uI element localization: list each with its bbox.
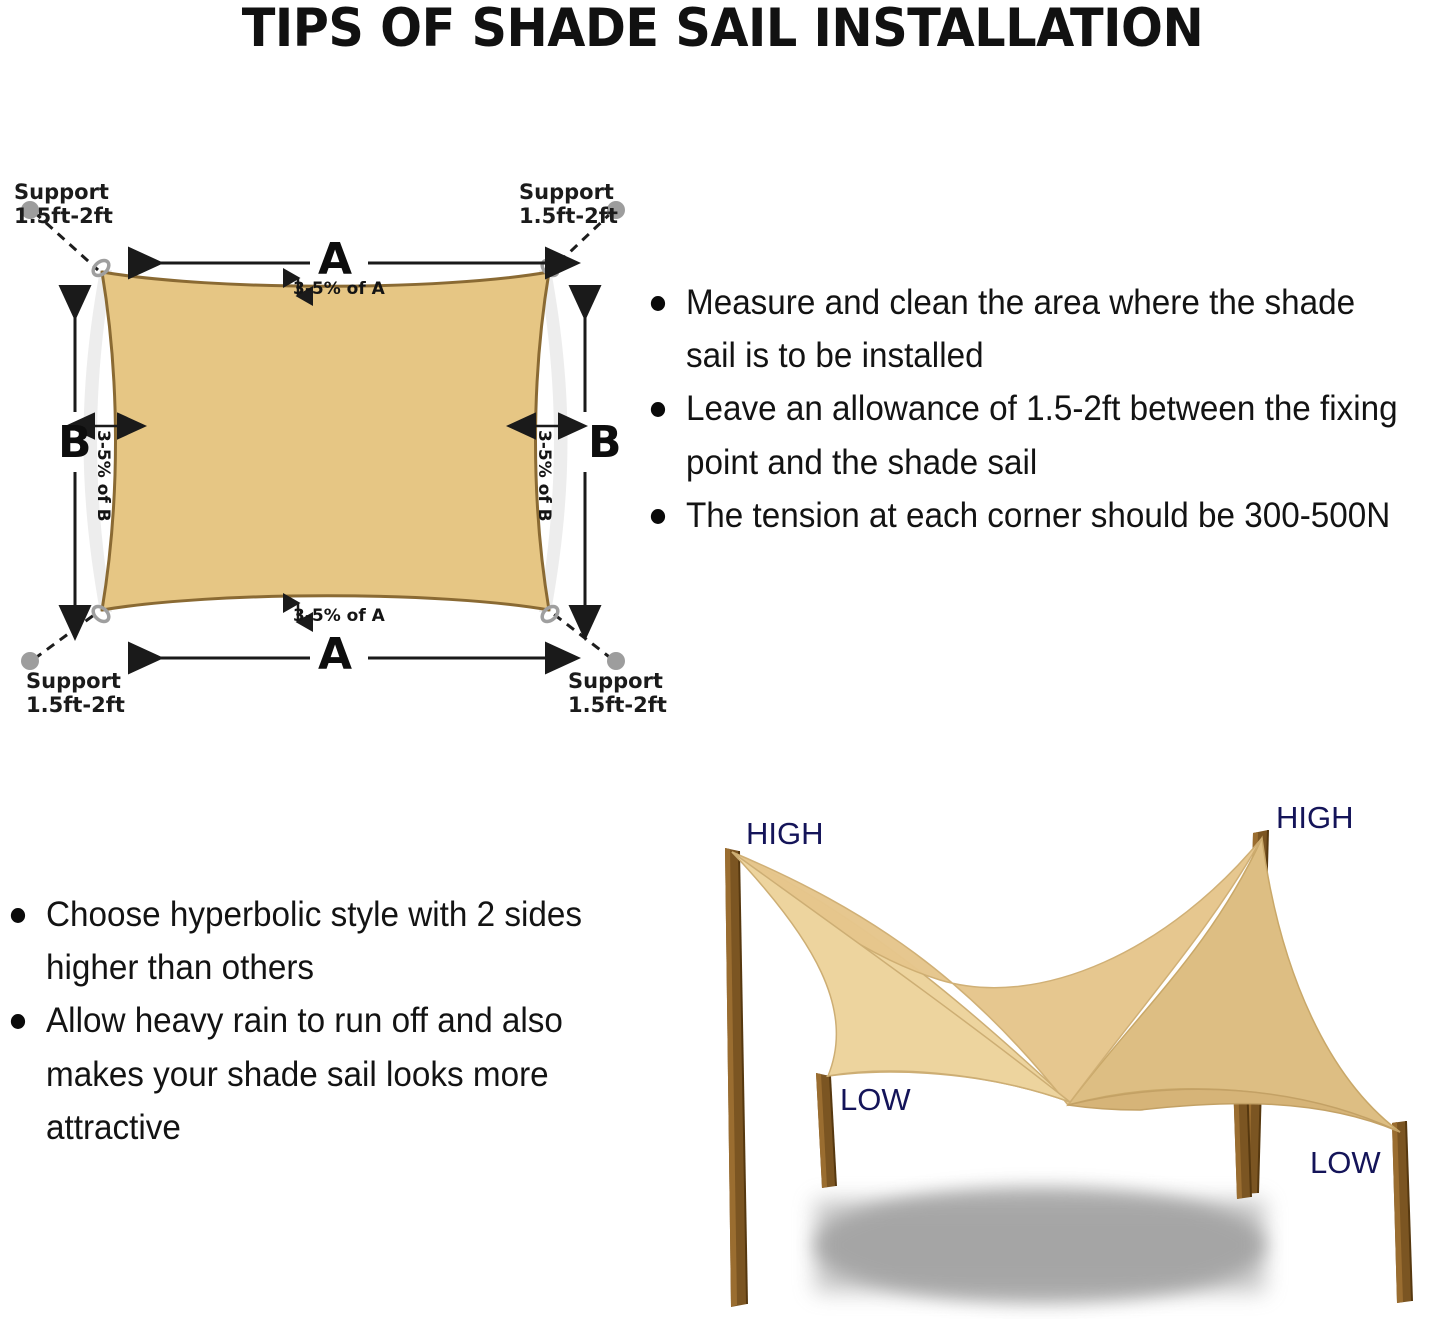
support-label-line1: Support bbox=[519, 181, 618, 205]
hyperbolic-sail-illustration: HIGH HIGH LOW LOW bbox=[640, 780, 1445, 1319]
list-item: Choose hyperbolic style with 2 sides hig… bbox=[8, 888, 597, 994]
list-item: Allow heavy rain to run off and also mak… bbox=[8, 994, 597, 1154]
support-dot-bottom-right bbox=[607, 652, 625, 670]
tips-list-left: Choose hyperbolic style with 2 sides hig… bbox=[8, 888, 628, 1154]
infographic-page: TIPS OF SHADE SAIL INSTALLATION bbox=[0, 0, 1445, 1319]
support-label-line2: 1.5ft-2ft bbox=[568, 694, 667, 718]
sail-lower-left-panel bbox=[732, 852, 1070, 1102]
label-high-left: HIGH bbox=[746, 816, 824, 851]
post-low-left bbox=[816, 1073, 836, 1188]
support-label-line1: Support bbox=[568, 670, 667, 694]
list-item: The tension at each corner should be 300… bbox=[648, 489, 1408, 542]
tips-list-right: Measure and clean the area where the sha… bbox=[648, 276, 1445, 542]
dimension-letter-b-left: B bbox=[58, 417, 92, 468]
support-label-line1: Support bbox=[26, 670, 125, 694]
support-label-line2: 1.5ft-2ft bbox=[26, 694, 125, 718]
label-low-right: LOW bbox=[1310, 1145, 1381, 1180]
support-dot-bottom-left bbox=[21, 652, 39, 670]
curve-depth-label-right: 3-5% of B bbox=[534, 430, 554, 522]
page-title: TIPS OF SHADE SAIL INSTALLATION bbox=[51, 0, 1395, 59]
curve-depth-label-left: 3-5% of B bbox=[93, 430, 113, 522]
support-label-line2: 1.5ft-2ft bbox=[14, 205, 113, 229]
support-label-line2: 1.5ft-2ft bbox=[519, 205, 618, 229]
curve-depth-label-top: 3-5% of A bbox=[293, 279, 385, 299]
list-item: Leave an allowance of 1.5-2ft between th… bbox=[648, 382, 1408, 488]
dimension-letter-a-bottom: A bbox=[318, 629, 352, 680]
support-label-bottom-left: Support 1.5ft-2ft bbox=[26, 670, 125, 717]
list-item: Measure and clean the area where the sha… bbox=[648, 276, 1408, 382]
ground-shadow-rect bbox=[815, 1200, 1265, 1292]
support-label-top-right: Support 1.5ft-2ft bbox=[519, 181, 618, 228]
shade-sail-shape bbox=[102, 272, 549, 610]
support-label-top-left: Support 1.5ft-2ft bbox=[14, 181, 113, 228]
post-high-left bbox=[725, 848, 747, 1307]
label-high-right: HIGH bbox=[1276, 800, 1354, 835]
dimension-letter-a-top: A bbox=[318, 234, 352, 285]
support-label-line1: Support bbox=[14, 181, 113, 205]
curve-depth-label-bottom: 3-5% of A bbox=[293, 606, 385, 626]
dimension-letter-b-right: B bbox=[588, 417, 622, 468]
support-label-bottom-right: Support 1.5ft-2ft bbox=[568, 670, 667, 717]
label-low-left: LOW bbox=[840, 1082, 911, 1117]
post-low-right bbox=[1392, 1121, 1412, 1303]
